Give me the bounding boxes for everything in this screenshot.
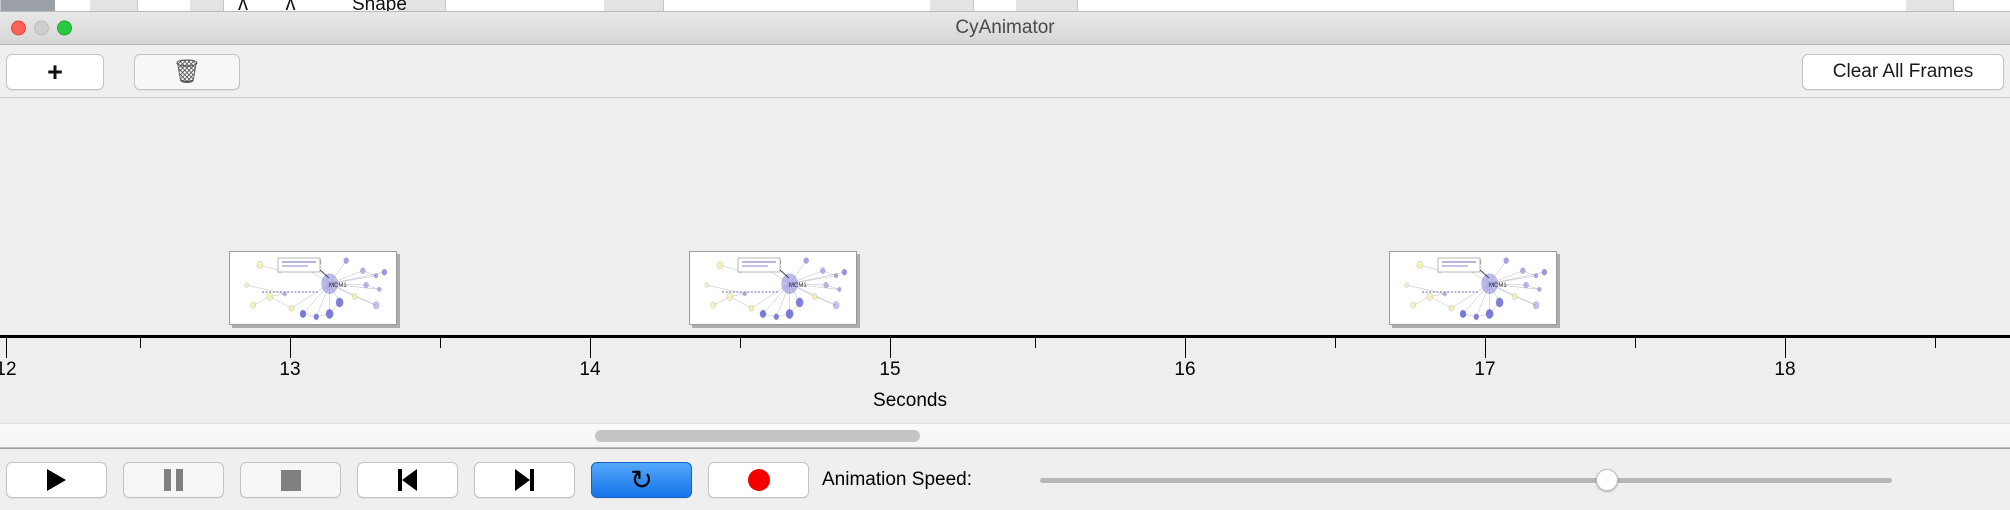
svg-text:MCM1: MCM1 <box>789 283 807 289</box>
timeline-scrollbar-thumb[interactable] <box>595 430 920 442</box>
window-title: CyAnimator <box>0 17 2010 39</box>
ruler-tick-label: 12 <box>0 359 17 381</box>
ruler-tick <box>140 338 141 348</box>
title-bar: CyAnimator <box>0 12 2010 45</box>
plus-icon: + <box>47 59 63 86</box>
skip-back-icon <box>398 469 417 491</box>
stop-button <box>240 462 341 498</box>
frames-toolbar: + 🗑 Clear All Frames <box>0 45 2010 98</box>
stop-icon <box>281 470 301 491</box>
delete-frame-button[interactable]: 🗑 <box>134 54 240 90</box>
pause-icon <box>164 469 183 491</box>
cyanimator-window: CyAnimator + 🗑 Clear All Frames MCM1MCM1… <box>0 12 2010 510</box>
bg-dark-block <box>0 0 55 12</box>
bg-chip <box>190 0 224 12</box>
speed-slider-track[interactable] <box>1040 478 1892 483</box>
timeline-ruler[interactable]: 12131415161718 <box>0 335 2010 381</box>
record-icon <box>748 469 770 491</box>
keyframe-thumbnail[interactable]: MCM1 <box>1389 251 1557 325</box>
bg-chip <box>930 0 974 12</box>
bg-chip <box>604 0 664 12</box>
ruler-tick-label: 13 <box>279 359 300 381</box>
svg-text:MCM1: MCM1 <box>1489 283 1507 289</box>
clear-all-frames-label: Clear All Frames <box>1833 61 1973 83</box>
ruler-tick <box>290 338 291 358</box>
ruler-tick-label: 16 <box>1174 359 1195 381</box>
loop-icon: ↻ <box>630 467 653 494</box>
play-icon <box>47 469 66 491</box>
add-frame-button[interactable]: + <box>6 54 104 90</box>
ruler-tick <box>890 338 891 358</box>
ruler-tick <box>1035 338 1036 348</box>
ruler-baseline <box>0 335 2010 338</box>
ruler-tick <box>1635 338 1636 348</box>
timeline-panel[interactable]: MCM1MCM1MCM1 12131415161718 Seconds <box>0 98 2010 448</box>
loop-button[interactable]: ↻ <box>591 462 692 498</box>
axis-title: Seconds <box>0 390 2010 412</box>
ruler-tick <box>1485 338 1486 358</box>
clear-all-frames-button[interactable]: Clear All Frames <box>1802 54 2004 90</box>
keyframe-thumbnail[interactable]: MCM1 <box>689 251 857 325</box>
ruler-tick <box>1185 338 1186 358</box>
timeline-scrollbar[interactable] <box>0 423 2010 447</box>
ruler-tick <box>740 338 741 348</box>
keyframes-layer: MCM1MCM1MCM1 <box>0 98 2010 333</box>
ruler-tick <box>1785 338 1786 358</box>
bg-partial-window-label: Shape <box>352 0 407 12</box>
pause-button <box>123 462 224 498</box>
bg-partial-glyphs: ᴧ ᴧ <box>238 0 312 12</box>
ruler-tick-label: 17 <box>1474 359 1495 381</box>
speed-slider-thumb[interactable] <box>1596 469 1618 491</box>
ruler-tick <box>1335 338 1336 348</box>
skip-to-end-button[interactable] <box>474 462 575 498</box>
bg-chip <box>90 0 138 12</box>
ruler-tick <box>6 338 7 358</box>
bg-chip <box>1016 0 1078 12</box>
ruler-tick-label: 14 <box>579 359 600 381</box>
ruler-tick <box>1935 338 1936 348</box>
play-button[interactable] <box>6 462 107 498</box>
background-window-strip: ᴧ ᴧ Shape <box>0 0 2010 12</box>
keyframe-thumbnail[interactable]: MCM1 <box>229 251 397 325</box>
ruler-tick <box>590 338 591 358</box>
transport-bar: Animation Speed: ↻ <box>0 448 2010 510</box>
ruler-tick-label: 18 <box>1774 359 1795 381</box>
ruler-tick-label: 15 <box>879 359 900 381</box>
ruler-tick <box>440 338 441 348</box>
trash-icon: 🗑 <box>172 61 201 84</box>
animation-speed-slider[interactable] <box>1040 469 1892 491</box>
record-button[interactable] <box>708 462 809 498</box>
animation-speed-label: Animation Speed: <box>822 469 972 491</box>
bg-chip <box>1906 0 1954 12</box>
skip-forward-icon <box>515 469 534 491</box>
skip-to-start-button[interactable] <box>357 462 458 498</box>
svg-text:MCM1: MCM1 <box>329 283 347 289</box>
bg-chip <box>0 0 1 12</box>
